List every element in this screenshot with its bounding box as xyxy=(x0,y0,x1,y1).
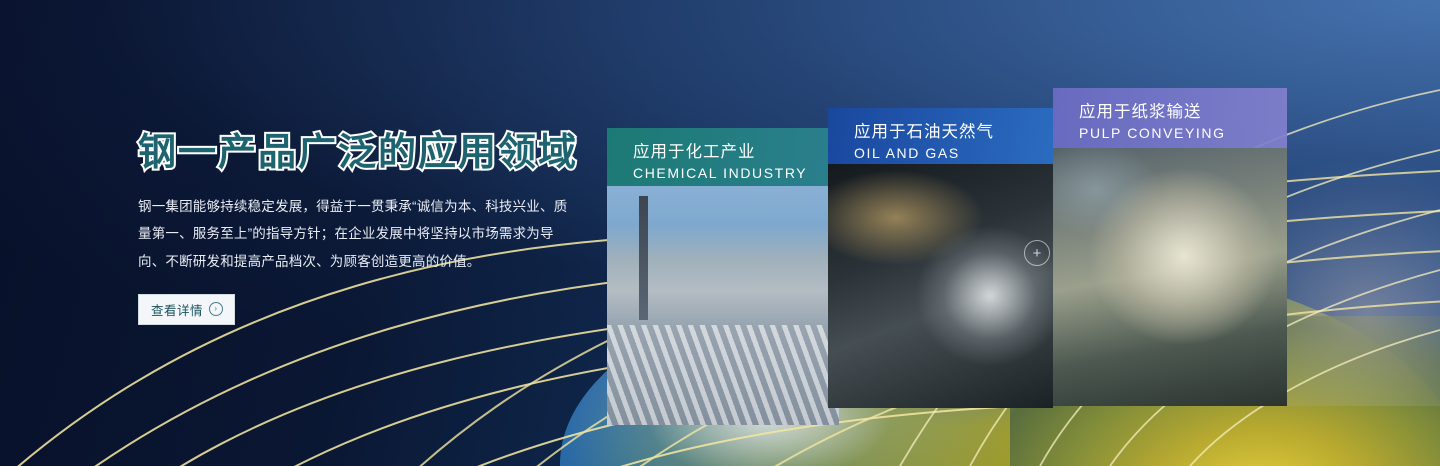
card-oil-and-gas[interactable]: + 应用于石油天然气 OIL AND GAS xyxy=(828,108,1053,408)
card-chemical-title-en: CHEMICAL INDUSTRY xyxy=(633,164,839,182)
zoom-in-icon[interactable]: + xyxy=(1024,240,1050,266)
card-pulp-title-en: PULP CONVEYING xyxy=(1079,124,1287,142)
view-details-button[interactable]: 查看详情 › xyxy=(138,294,235,325)
banner-description: 钢一集团能够持续稳定发展，得益于一贯秉承“诚信为本、科技兴业、质量第一、服务至上… xyxy=(138,193,580,276)
page-title: 钢一产品广泛的应用领域 xyxy=(138,132,593,175)
card-oilgas-band: 应用于石油天然气 OIL AND GAS xyxy=(828,108,1053,164)
card-chemical-photo xyxy=(607,186,839,425)
card-chemical-band: 应用于化工产业 CHEMICAL INDUSTRY xyxy=(607,128,839,186)
card-pulp-photo xyxy=(1053,148,1287,406)
card-oilgas-photo xyxy=(828,164,1053,408)
card-pulp-title-cn: 应用于纸浆输送 xyxy=(1079,101,1287,123)
card-chemical-title-cn: 应用于化工产业 xyxy=(633,141,839,163)
card-oilgas-title-en: OIL AND GAS xyxy=(854,144,1053,162)
card-chemical-industry[interactable]: 应用于化工产业 CHEMICAL INDUSTRY xyxy=(607,128,839,425)
banner-copy: 钢一产品广泛的应用领域 钢一集团能够持续稳定发展，得益于一贯秉承“诚信为本、科技… xyxy=(138,132,593,325)
chevron-right-icon: › xyxy=(209,302,223,316)
card-pulp-band: 应用于纸浆输送 PULP CONVEYING xyxy=(1053,88,1287,148)
view-details-label: 查看详情 xyxy=(151,300,203,319)
card-pulp-conveying[interactable]: 应用于纸浆输送 PULP CONVEYING xyxy=(1053,88,1287,406)
card-oilgas-title-cn: 应用于石油天然气 xyxy=(854,121,1053,143)
hero-banner: 钢一产品广泛的应用领域 钢一集团能够持续稳定发展，得益于一贯秉承“诚信为本、科技… xyxy=(0,0,1440,466)
